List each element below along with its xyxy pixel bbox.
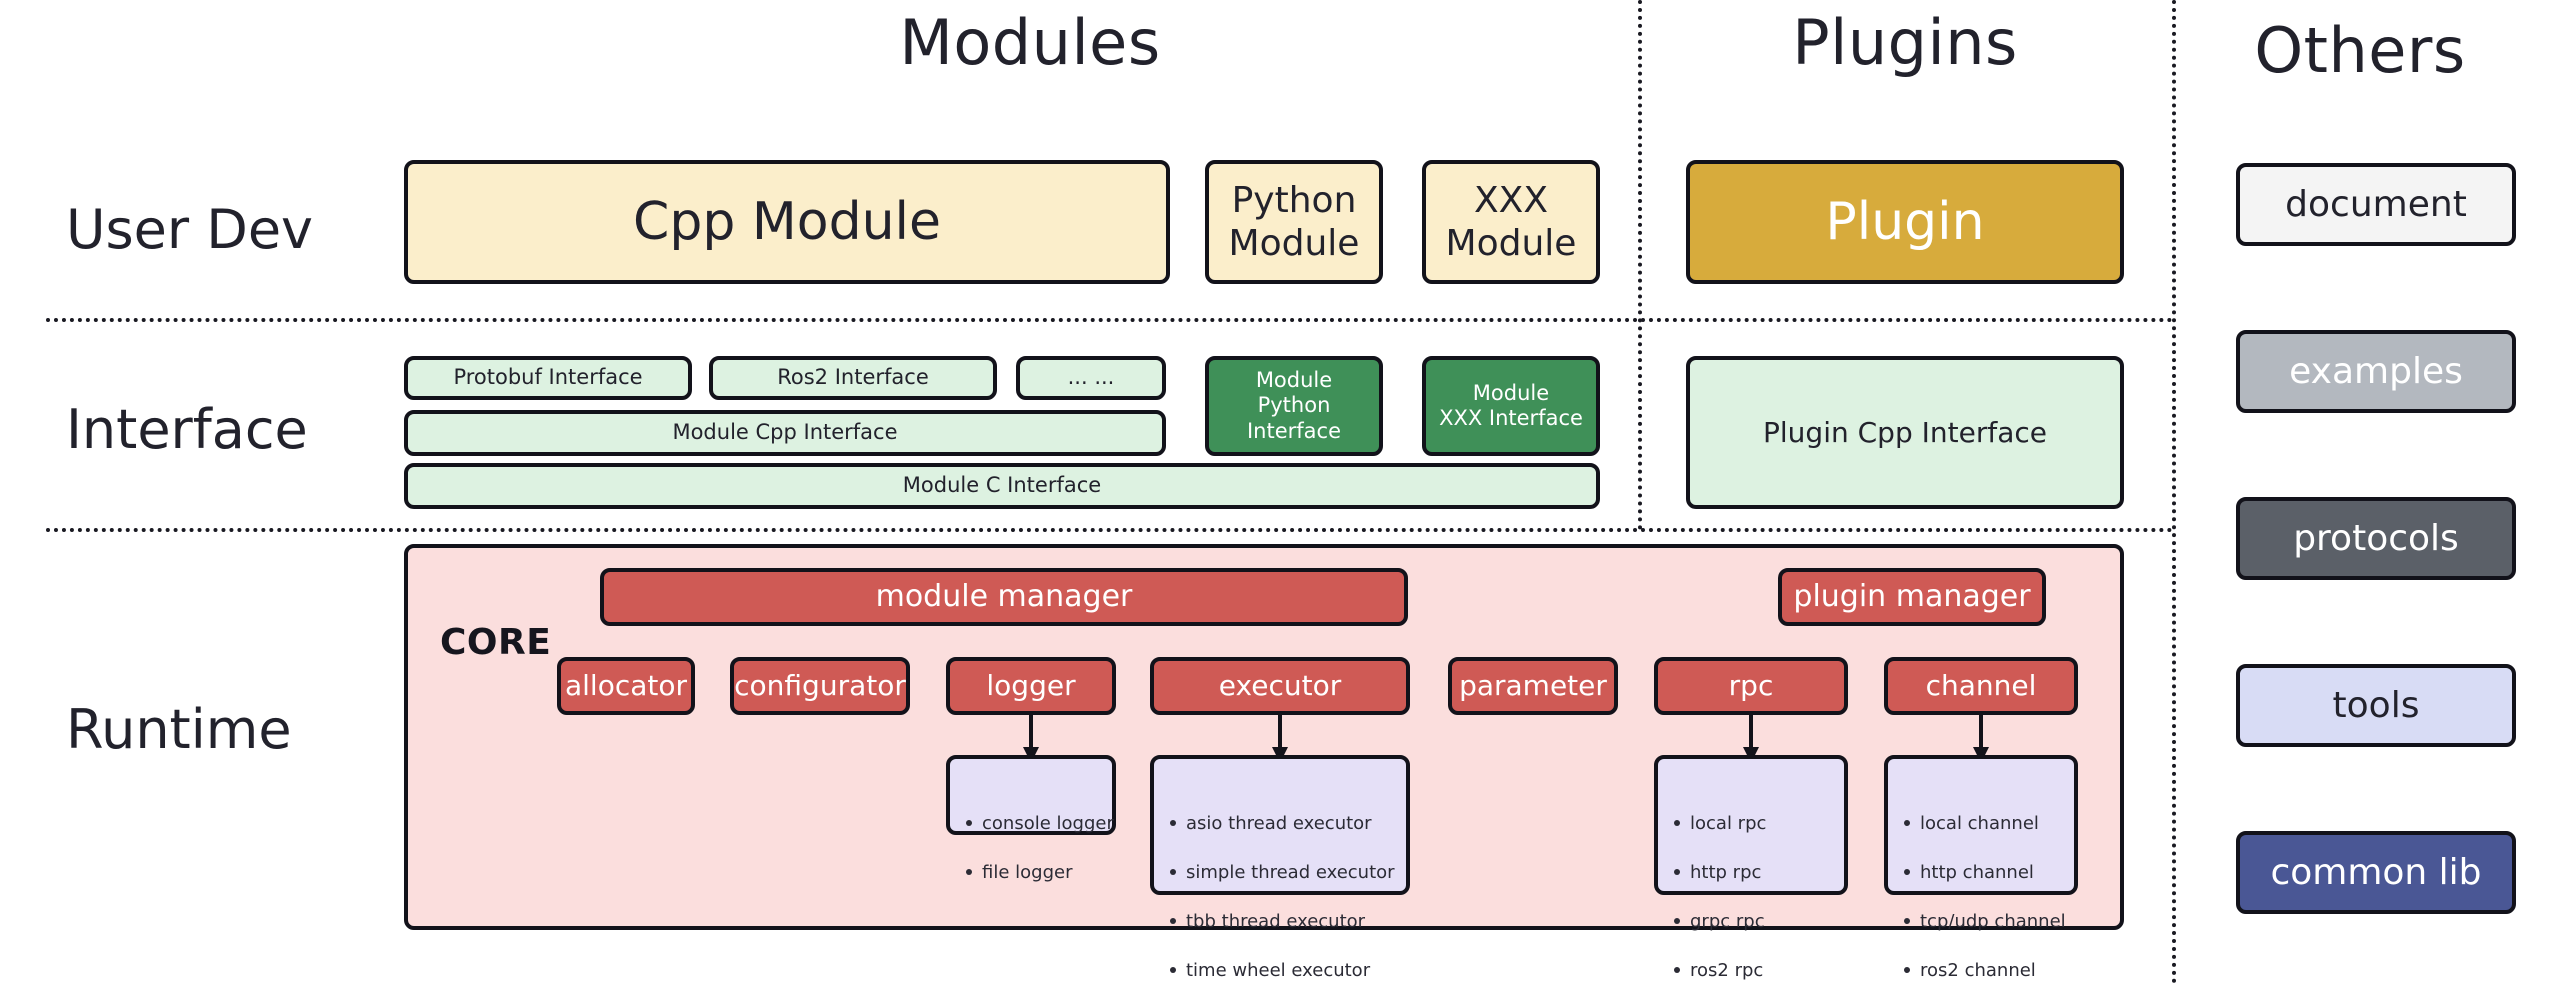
list-item: local channel — [1902, 810, 2068, 837]
list-item: tbb thread executor — [1168, 908, 1400, 935]
logger-detail-list: console logger file logger — [950, 778, 1112, 914]
node-module-cpp-interface[interactable]: Module Cpp Interface — [404, 410, 1166, 456]
column-title-modules: Modules — [830, 6, 1230, 79]
executor-detail-list: asio thread executor simple thread execu… — [1154, 778, 1406, 984]
node-python-module[interactable]: Python Module — [1205, 160, 1383, 284]
list-item: http channel — [1902, 859, 2068, 886]
divider-modules-plugins — [1638, 0, 1642, 530]
row-label-interface: Interface — [66, 398, 308, 461]
detail-channel: local channel http channel tcp/udp chann… — [1884, 755, 2078, 895]
detail-executor: asio thread executor simple thread execu… — [1150, 755, 1410, 895]
row-label-runtime: Runtime — [66, 698, 292, 761]
list-item: asio thread executor — [1168, 810, 1400, 837]
list-item: grpc rpc — [1672, 908, 1838, 935]
core-label: CORE — [440, 622, 551, 663]
divider-interface-runtime — [46, 528, 2174, 532]
node-module-manager[interactable]: module manager — [600, 568, 1408, 626]
node-protobuf-interface[interactable]: Protobuf Interface — [404, 356, 692, 400]
architecture-diagram: Modules Plugins Others User Dev Interfac… — [0, 0, 2560, 984]
node-channel[interactable]: channel — [1884, 657, 2078, 715]
node-executor[interactable]: executor — [1150, 657, 1410, 715]
node-logger[interactable]: logger — [946, 657, 1116, 715]
list-item: console logger — [964, 810, 1106, 837]
node-module-python-interface[interactable]: Module Python Interface — [1205, 356, 1383, 456]
node-module-xxx-interface[interactable]: Module XXX Interface — [1422, 356, 1600, 456]
node-parameter[interactable]: parameter — [1448, 657, 1618, 715]
node-document[interactable]: document — [2236, 163, 2516, 246]
node-rpc[interactable]: rpc — [1654, 657, 1848, 715]
row-label-user-dev: User Dev — [66, 198, 313, 261]
node-xxx-module[interactable]: XXX Module — [1422, 160, 1600, 284]
list-item: file logger — [964, 859, 1106, 886]
column-title-plugins: Plugins — [1705, 6, 2105, 79]
list-item: http rpc — [1672, 859, 1838, 886]
list-item: time wheel executor — [1168, 957, 1400, 984]
node-plugin-cpp-interface[interactable]: Plugin Cpp Interface — [1686, 356, 2124, 509]
list-item: tcp/udp channel — [1902, 908, 2068, 935]
detail-rpc: local rpc http rpc grpc rpc ros2 rpc ...… — [1654, 755, 1848, 895]
node-allocator[interactable]: allocator — [557, 657, 695, 715]
node-examples[interactable]: examples — [2236, 330, 2516, 413]
node-plugin-manager[interactable]: plugin manager — [1778, 568, 2046, 626]
node-module-c-interface[interactable]: Module C Interface — [404, 463, 1600, 509]
node-cpp-module[interactable]: Cpp Module — [404, 160, 1170, 284]
node-configurator[interactable]: configurator — [730, 657, 910, 715]
divider-userdev-interface — [46, 318, 2174, 322]
node-tools[interactable]: tools — [2236, 664, 2516, 747]
channel-detail-list: local channel http channel tcp/udp chann… — [1888, 778, 2074, 984]
node-protocols[interactable]: protocols — [2236, 497, 2516, 580]
list-item: ros2 channel — [1902, 957, 2068, 984]
list-item: ros2 rpc — [1672, 957, 1838, 984]
node-plugin[interactable]: Plugin — [1686, 160, 2124, 284]
node-common-lib[interactable]: common lib — [2236, 831, 2516, 914]
detail-logger: console logger file logger — [946, 755, 1116, 835]
list-item: local rpc — [1672, 810, 1838, 837]
node-more-interface[interactable]: ... ... — [1016, 356, 1166, 400]
list-item: simple thread executor — [1168, 859, 1400, 886]
divider-plugins-others — [2172, 0, 2176, 984]
rpc-detail-list: local rpc http rpc grpc rpc ros2 rpc ...… — [1658, 778, 1844, 984]
node-ros2-interface[interactable]: Ros2 Interface — [709, 356, 997, 400]
column-title-others: Others — [2190, 14, 2530, 87]
